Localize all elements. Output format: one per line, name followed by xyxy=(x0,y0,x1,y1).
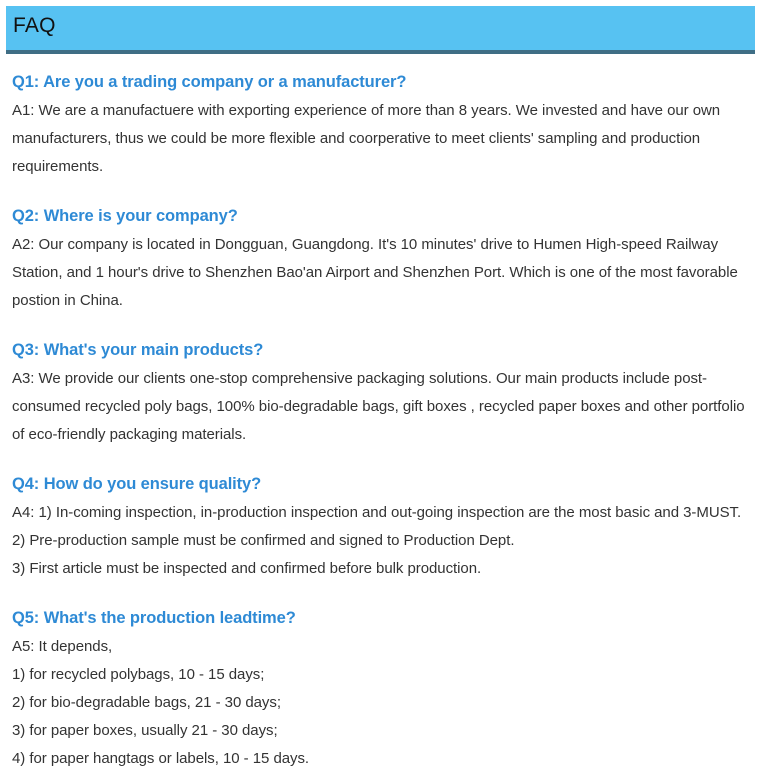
faq-answer-line: A5: It depends, xyxy=(12,633,754,661)
faq-question-5: Q5: What's the production leadtime? xyxy=(12,606,754,631)
faq-answer-line: 4) for paper hangtags or labels, 10 - 15… xyxy=(12,745,754,773)
faq-answer-3: A3: We provide our clients one-stop comp… xyxy=(12,365,754,449)
faq-item-4: Q4: How do you ensure quality? A4: 1) In… xyxy=(12,472,754,583)
faq-list: Q1: Are you a trading company or a manuf… xyxy=(12,70,754,773)
faq-question-3: Q3: What's your main products? xyxy=(12,338,754,363)
faq-banner: FAQ xyxy=(6,6,755,54)
faq-answer-line: A4: 1) In-coming inspection, in-producti… xyxy=(12,499,754,527)
faq-answer-1: A1: We are a manufactuere with exporting… xyxy=(12,97,754,181)
faq-answer-5: A5: It depends, 1) for recycled polybags… xyxy=(12,633,754,773)
faq-answer-2: A2: Our company is located in Dongguan, … xyxy=(12,231,754,315)
faq-answer-line: 2) for bio-degradable bags, 21 - 30 days… xyxy=(12,689,754,717)
faq-item-3: Q3: What's your main products? A3: We pr… xyxy=(12,338,754,449)
faq-question-1: Q1: Are you a trading company or a manuf… xyxy=(12,70,754,95)
faq-answer-line: 2) Pre-production sample must be confirm… xyxy=(12,527,754,555)
faq-question-4: Q4: How do you ensure quality? xyxy=(12,472,754,497)
faq-answer-line: 3) First article must be inspected and c… xyxy=(12,555,754,583)
faq-item-2: Q2: Where is your company? A2: Our compa… xyxy=(12,204,754,315)
page-title: FAQ xyxy=(13,13,56,39)
faq-answer-line: 1) for recycled polybags, 10 - 15 days; xyxy=(12,661,754,689)
faq-item-1: Q1: Are you a trading company or a manuf… xyxy=(12,70,754,181)
faq-answer-line: 3) for paper boxes, usually 21 - 30 days… xyxy=(12,717,754,745)
faq-question-2: Q2: Where is your company? xyxy=(12,204,754,229)
faq-answer-4: A4: 1) In-coming inspection, in-producti… xyxy=(12,499,754,583)
faq-page: FAQ Q1: Are you a trading company or a m… xyxy=(0,0,765,748)
